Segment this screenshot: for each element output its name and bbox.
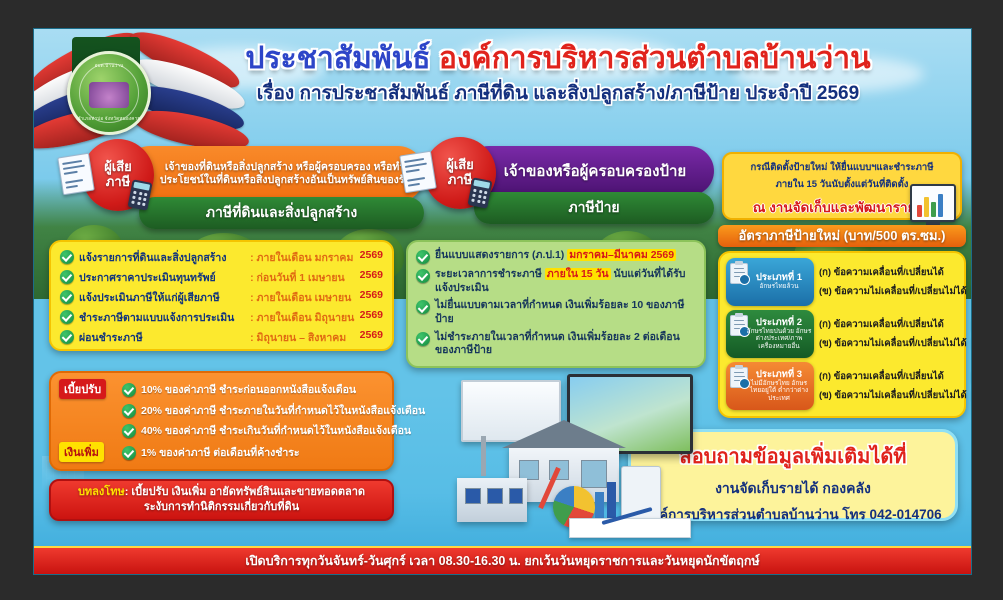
house-roof (502, 420, 626, 448)
penalty-row: เบี้ยปรับ10% ของค่าภาษี ชำระก่อนออกหนังส… (59, 379, 384, 399)
land-schedule-row: แจ้งรายการที่ดินและสิ่งปลูกสร้าง: ภายในเ… (60, 249, 383, 266)
sign-schedule-text: ระยะเวลาการชำระภาษี ภายใน 15 วัน นับแต่ว… (435, 268, 696, 295)
sign-badge-line-1: ผู้เสีย (446, 158, 474, 173)
penalty-list: เบี้ยปรับ10% ของค่าภาษี ชำระก่อนออกหนังส… (59, 379, 384, 462)
sign-schedule-row: ระยะเวลาการชำระภาษี ภายใน 15 วัน นับแต่ว… (416, 268, 696, 295)
document-icon (57, 153, 95, 196)
punishment-line-1: : เบี้ยปรับ เงินเพิ่ม อายัดทรัพย์สินและข… (125, 486, 365, 498)
land-schedule-label: ประกาศราคาประเมินทุนทรัพย์ (79, 269, 245, 286)
rate-category-row: ประเภทที่ 2อักษรไทยปนด้วย อักษรต่างประเท… (726, 310, 958, 358)
land-tax-schedule-panel: แจ้งรายการที่ดินและสิ่งปลูกสร้าง: ภายในเ… (49, 240, 394, 351)
penalty-row: 40% ของค่าภาษี ชำระเกินวันที่กำหนดไว้ในห… (59, 422, 384, 439)
poster-headline: ประชาสัมพันธ์ องค์การบริหารส่วนตำบลบ้านว… (152, 43, 964, 108)
poster-canvas: อบต.บ้านว่าน อำเภอท่าบ่อ จังหวัดหนองคาย … (33, 28, 972, 575)
land-schedule-when: : ภายในเดือน มิถุนายน (250, 309, 355, 326)
rate-category-desc: ไม่มีอักษรไทย อักษรไทยอยู่ใต้ ต่ำกว่าต่า… (746, 380, 812, 402)
penalty-text: 10% ของค่าภาษี ชำระก่อนออกหนังสือแจ้งเตื… (141, 381, 356, 398)
rate-category-name: ประเภทที่ 1 (746, 273, 812, 283)
check-icon (416, 332, 430, 346)
rate-description: (ข) ข้อความไม่เคลื่อนที่/เปลี่ยนไม่ได้ (819, 284, 967, 299)
rate-category-badge: ประเภทที่ 2อักษรไทยปนด้วย อักษรต่างประเท… (726, 310, 814, 358)
check-icon (60, 330, 74, 344)
check-icon (60, 310, 74, 324)
bar-chart-monitor-icon (910, 184, 956, 222)
penalty-row: 20% ของค่าภาษี ชำระภายในวันที่กำหนดไว้ใน… (59, 402, 384, 419)
penalty-text: 1% ของค่าภาษี ต่อเดือนที่ค้างชำระ (141, 444, 300, 461)
check-icon (122, 383, 136, 397)
check-icon (122, 446, 136, 460)
penalty-panel: เบี้ยปรับ10% ของค่าภาษี ชำระก่อนออกหนังส… (49, 371, 394, 471)
rate-category-name: ประเภทที่ 2 (746, 318, 812, 328)
document-icon (399, 151, 437, 194)
sign-schedule-row: ไม่ชำระภายในเวลาที่กำหนด เงินเพิ่มร้อยละ… (416, 331, 696, 358)
land-schedule-label: แจ้งรายการที่ดินและสิ่งปลูกสร้าง (79, 249, 245, 266)
title-part-1: ประชาสัมพันธ์ (245, 42, 439, 75)
penalty-text: 20% ของค่าภาษี ชำระภายในวันที่กำหนดไว้ใน… (141, 402, 425, 419)
surcharge-label: เงินเพิ่ม (59, 442, 104, 462)
sign-tax-type-pill: ภาษีป้าย (474, 192, 714, 224)
fine-label: เบี้ยปรับ (59, 379, 106, 399)
notice-line-1: กรณีติดตั้งป้ายใหม่ ให้ยื่นแบบฯและชำระภา… (732, 160, 952, 175)
check-icon (122, 404, 136, 418)
billboard-leg (481, 436, 486, 476)
land-schedule-when: : ภายในเดือน เมษายน (250, 289, 355, 306)
sign-tax-schedule-list: ยื่นแบบแสดงรายการ (ภ.ป.1) มกราคม–มีนาคม … (416, 249, 696, 358)
window (519, 460, 539, 480)
screenshot-root: อบต.บ้านว่าน อำเภอท่าบ่อ จังหวัดหนองคาย … (0, 0, 1003, 600)
check-icon (416, 269, 430, 283)
sign-badge-line-2: ภาษี (448, 173, 472, 188)
land-schedule-when: : มิถุนายน – สิงหาคม (250, 329, 355, 346)
sign-schedule-row: ยื่นแบบแสดงรายการ (ภ.ป.1) มกราคม–มีนาคม … (416, 249, 696, 264)
punishment-strip: บทลงโทษ: เบี้ยปรับ เงินเพิ่ม อายัดทรัพย์… (49, 479, 394, 521)
land-schedule-row: ผ่อนชำระภาษี: มิถุนายน – สิงหาคม2569 (60, 329, 383, 346)
bar-graphic (607, 482, 616, 518)
land-schedule-row: แจ้งประเมินภาษีให้แก่ผู้เสียภาษี: ภายในเ… (60, 289, 383, 306)
rate-lines: (ก) ข้อความเคลื่อนที่/เปลี่ยนได้(ข) ข้อค… (819, 265, 967, 299)
sign-schedule-highlight: มกราคม–มีนาคม 2569 (567, 249, 676, 261)
window (487, 488, 503, 504)
sign-schedule-text: ยื่นแบบแสดงรายการ (ภ.ป.1) มกราคม–มีนาคม … (435, 249, 676, 263)
service-hours-footer: เปิดบริการทุกวันจันทร์-วันศุกร์ เวลา 08.… (34, 546, 971, 574)
land-taxpayer-description-pill: เจ้าของที่ดินหรือสิ่งปลูกสร้าง หรือผู้คร… (124, 146, 424, 202)
sign-taxpayer-description-pill: เจ้าของหรือผู้ครอบครองป้าย (464, 146, 714, 196)
land-tax-type-label: ภาษีที่ดินและสิ่งปลูกสร้าง (206, 202, 357, 224)
check-icon (60, 270, 74, 284)
land-schedule-year: 2569 (360, 269, 383, 281)
check-icon (416, 300, 430, 314)
land-tax-type-pill: ภาษีที่ดินและสิ่งปลูกสร้าง (139, 197, 424, 229)
check-icon (60, 290, 74, 304)
window (581, 460, 607, 488)
center-illustration (449, 374, 749, 544)
sign-schedule-row: ไม่ยื่นแบบตามเวลาที่กำหนด เงินเพิ่มร้อยล… (416, 299, 696, 326)
emblem-artwork (89, 82, 129, 108)
land-schedule-year: 2569 (360, 289, 383, 301)
rate-lines: (ก) ข้อความเคลื่อนที่/เปลี่ยนได้(ข) ข้อค… (819, 317, 967, 351)
organization-emblem: อบต.บ้านว่าน อำเภอท่าบ่อ จังหวัดหนองคาย (58, 37, 154, 137)
rate-description: (ก) ข้อความเคลื่อนที่/เปลี่ยนได้ (819, 369, 967, 384)
window (465, 488, 481, 504)
land-schedule-label: ผ่อนชำระภาษี (79, 329, 245, 346)
sign-rate-table-panel: ประเภทที่ 1อักษรไทยล้วน(ก) ข้อความเคลื่อ… (718, 251, 966, 418)
page-title: ประชาสัมพันธ์ องค์การบริหารส่วนตำบลบ้านว… (152, 43, 964, 75)
check-icon (416, 250, 430, 264)
penalty-text: 40% ของค่าภาษี ชำระเกินวันที่กำหนดไว้ในห… (141, 422, 411, 439)
check-icon (122, 424, 136, 438)
rate-category-row: ประเภทที่ 1อักษรไทยล้วน(ก) ข้อความเคลื่อ… (726, 258, 958, 306)
sign-rate-table-header: อัตราภาษีป้ายใหม่ (บาท/500 ตร.ซม.) (718, 225, 966, 247)
emblem-bottom-text: อำเภอท่าบ่อ จังหวัดหนองคาย (70, 116, 148, 123)
sign-schedule-text: ไม่ชำระภายในเวลาที่กำหนด เงินเพิ่มร้อยละ… (435, 331, 696, 358)
sign-schedule-text: ไม่ยื่นแบบตามเวลาที่กำหนด เงินเพิ่มร้อยล… (435, 299, 696, 326)
sign-tax-schedule-panel: ยื่นแบบแสดงรายการ (ภ.ป.1) มกราคม–มีนาคม … (406, 240, 706, 368)
penalty-row: เงินเพิ่ม1% ของค่าภาษี ต่อเดือนที่ค้างชำ… (59, 442, 384, 462)
bar-graphic (595, 492, 604, 518)
land-schedule-when: : ภายในเดือน มกราคม (250, 249, 355, 266)
land-schedule-row: ประกาศราคาประเมินทุนทรัพย์: ก่อนวันที่ 1… (60, 269, 383, 286)
rate-category-badge: ประเภทที่ 1อักษรไทยล้วน (726, 258, 814, 306)
window (509, 488, 523, 504)
rate-lines: (ก) ข้อความเคลื่อนที่/เปลี่ยนได้(ข) ข้อค… (819, 369, 967, 403)
clipboard-icon (730, 263, 748, 284)
rate-category-desc: อักษรไทยปนด้วย อักษรต่างประเทศ/ภาพ เครื่… (746, 328, 812, 350)
punishment-line-2: ระงับการทำนิติกรรมเกี่ยวกับที่ดิน (57, 500, 386, 515)
emblem-circle: อบต.บ้านว่าน อำเภอท่าบ่อ จังหวัดหนองคาย (67, 51, 151, 135)
new-sign-notice: กรณีติดตั้งป้ายใหม่ ให้ยื่นแบบฯและชำระภา… (722, 152, 962, 220)
emblem-top-text: อบต.บ้านว่าน (70, 63, 148, 70)
land-schedule-when: : ก่อนวันที่ 1 เมษายน (250, 269, 355, 286)
land-schedule-label: แจ้งประเมินภาษีให้แก่ผู้เสียภาษี (79, 289, 245, 306)
sign-tax-type-label: ภาษีป้าย (568, 197, 619, 219)
rate-category-name: ประเภทที่ 3 (746, 370, 812, 380)
page-subtitle: เรื่อง การประชาสัมพันธ์ ภาษีที่ดิน และสิ… (152, 78, 964, 108)
rate-category-row: ประเภทที่ 3ไม่มีอักษรไทย อักษรไทยอยู่ใต้… (726, 362, 958, 410)
land-schedule-year: 2569 (360, 309, 383, 321)
rate-description: (ข) ข้อความไม่เคลื่อนที่/เปลี่ยนไม่ได้ (819, 388, 967, 403)
land-taxpayer-description: เจ้าของที่ดินหรือสิ่งปลูกสร้าง หรือผู้คร… (154, 161, 416, 187)
punishment-label: บทลงโทษ (78, 486, 125, 498)
rate-description: (ข) ข้อความไม่เคลื่อนที่/เปลี่ยนไม่ได้ (819, 336, 967, 351)
rate-description: (ก) ข้อความเคลื่อนที่/เปลี่ยนได้ (819, 265, 967, 280)
land-badge-line-1: ผู้เสีย (104, 160, 132, 175)
sign-schedule-highlight: ภายใน 15 วัน (545, 268, 611, 280)
land-badge-line-2: ภาษี (106, 175, 130, 190)
rate-description: (ก) ข้อความเคลื่อนที่/เปลี่ยนได้ (819, 317, 967, 332)
sign-taxpayer-description: เจ้าของหรือผู้ครอบครองป้าย (504, 159, 686, 183)
rate-category-desc: อักษรไทยล้วน (746, 283, 812, 290)
land-schedule-row: ชำระภาษีตามแบบแจ้งการประเมิน: ภายในเดือน… (60, 309, 383, 326)
land-schedule-year: 2569 (360, 329, 383, 341)
small-house (457, 478, 527, 522)
land-schedule-label: ชำระภาษีตามแบบแจ้งการประเมิน (79, 309, 245, 326)
check-icon (60, 250, 74, 264)
title-part-2: องค์การบริหารส่วนตำบลบ้านว่าน (439, 42, 871, 75)
sign-rate-table: ประเภทที่ 1อักษรไทยล้วน(ก) ข้อความเคลื่อ… (726, 258, 958, 410)
document-stack (569, 518, 691, 538)
land-schedule-year: 2569 (360, 249, 383, 261)
land-tax-schedule-list: แจ้งรายการที่ดินและสิ่งปลูกสร้าง: ภายในเ… (60, 249, 383, 346)
